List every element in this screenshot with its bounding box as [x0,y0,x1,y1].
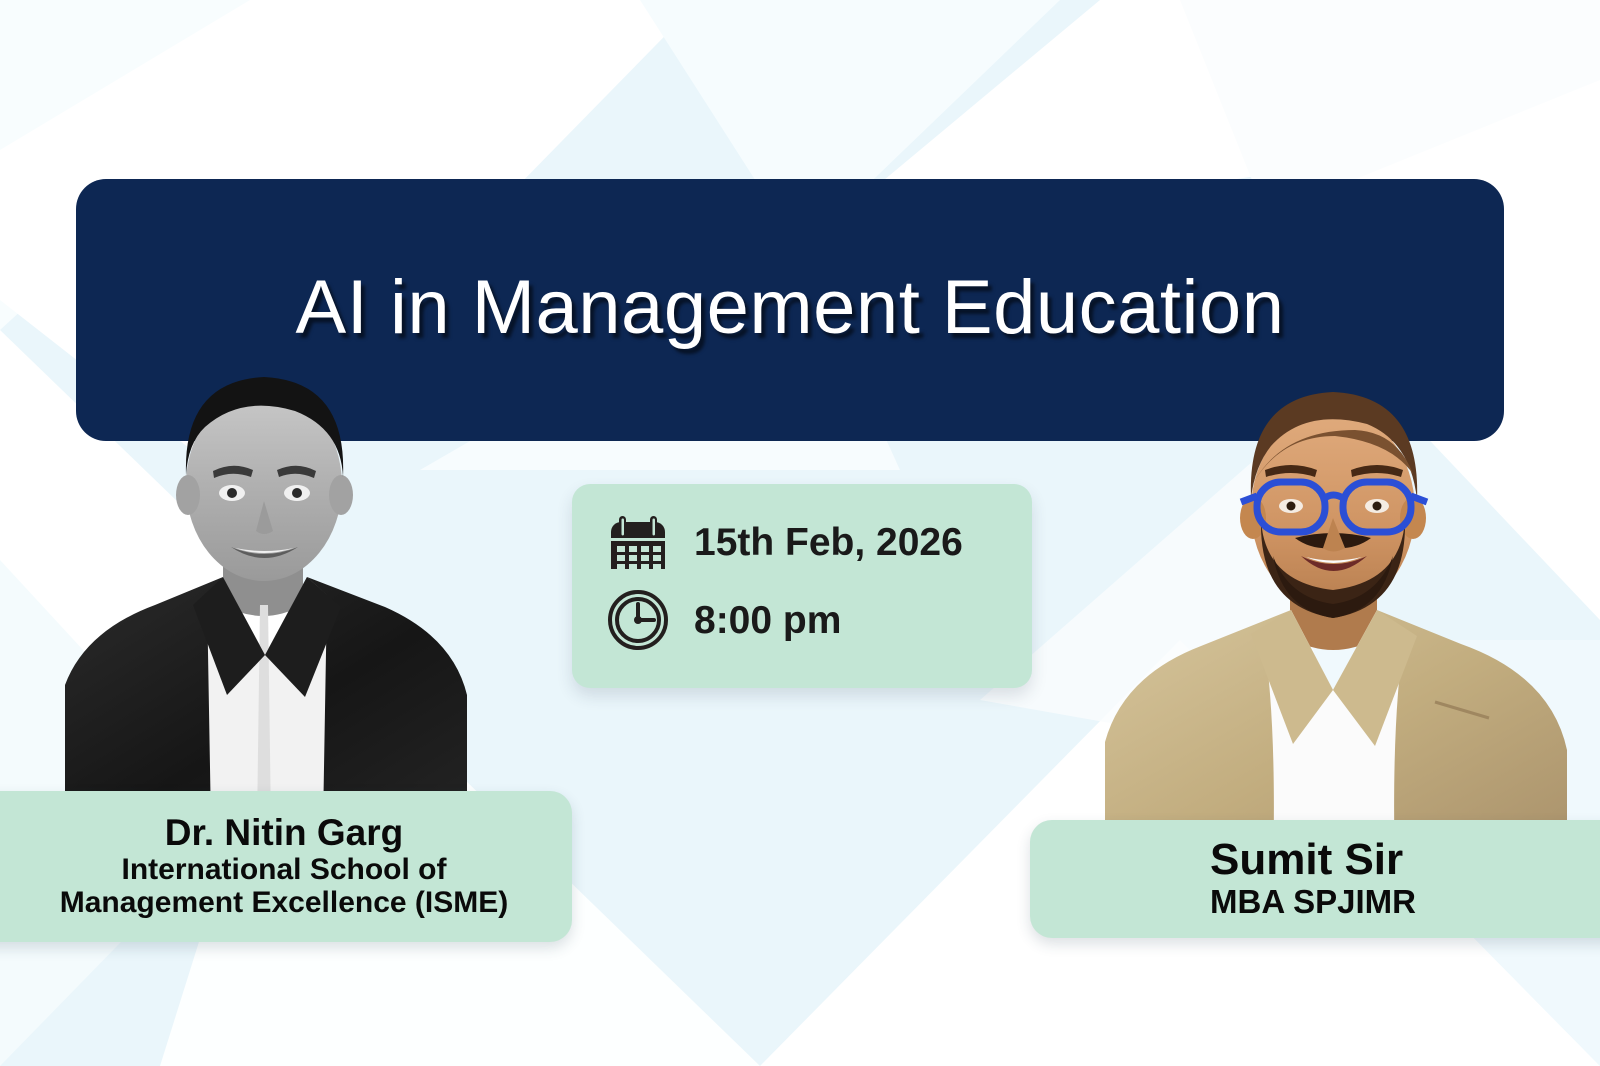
speaker-left-org-line1: International School of [121,853,446,887]
calendar-icon [604,510,672,574]
speaker-left-org-line2: Management Excellence (ISME) [60,886,508,920]
speaker-right-name: Sumit Sir [1210,837,1403,884]
event-datetime-card: 15th Feb, 2026 8:00 pm [572,484,1032,688]
clock-icon [604,588,672,652]
event-poster: AI in Management Education [0,0,1600,1066]
page-title: AI in Management Education [296,270,1285,350]
speaker-photo-left [55,355,475,825]
event-time-text: 8:00 pm [694,601,841,640]
speaker-left-name: Dr. Nitin Garg [165,813,403,852]
speaker-right-org-line1: MBA SPJIMR [1210,884,1416,921]
speaker-card-right: Sumit Sir MBA SPJIMR [1030,820,1600,938]
event-date-row: 15th Feb, 2026 [604,510,1032,574]
event-time-row: 8:00 pm [604,588,1032,652]
speaker-photo-right [1105,370,1575,870]
speaker-card-left: Dr. Nitin Garg International School of M… [0,791,572,942]
event-date-text: 15th Feb, 2026 [694,523,963,562]
